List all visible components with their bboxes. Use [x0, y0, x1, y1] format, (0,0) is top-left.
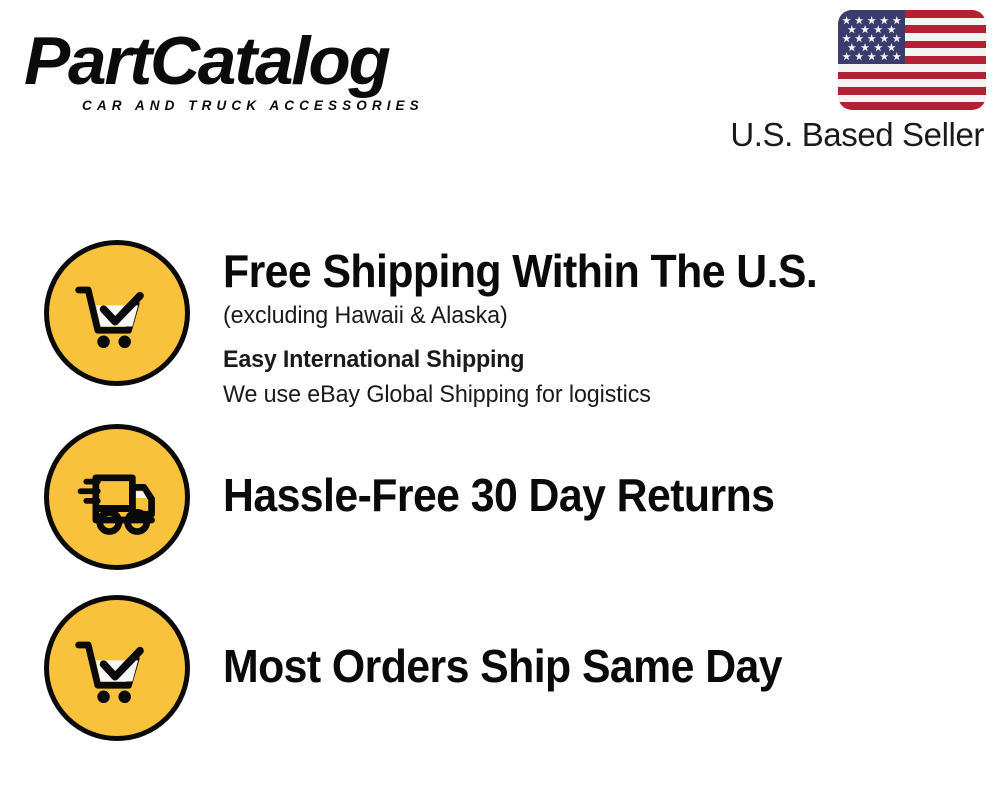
flag-star-icon	[847, 43, 856, 52]
flag-star-grid	[838, 10, 905, 64]
shopping-cart-check-icon	[44, 595, 190, 741]
flag-star-icon	[887, 43, 896, 52]
flag-star-icon	[855, 34, 864, 43]
flag-star-icon	[867, 34, 876, 43]
feature-row: Most Orders Ship Same Day	[0, 595, 1000, 741]
delivery-truck-icon	[44, 424, 190, 570]
flag-star-icon	[855, 16, 864, 25]
flag-stripe	[838, 64, 986, 72]
brand-wordmark: PartCatalog	[24, 26, 503, 96]
flag-star-icon	[855, 52, 864, 61]
flag-star-row	[842, 52, 901, 61]
flag-star-row	[842, 25, 901, 34]
flag-star-icon	[867, 16, 876, 25]
flag-star-icon	[874, 25, 883, 34]
flag-stripe	[838, 72, 986, 80]
feature-heading: Most Orders Ship Same Day	[223, 639, 946, 693]
feature-heading: Hassle-Free 30 Day Returns	[223, 468, 946, 522]
flag-star-row	[842, 34, 901, 43]
flag-stripe	[838, 79, 986, 87]
flag-star-icon	[861, 25, 870, 34]
us-based-seller-label: U.S. Based Seller	[730, 114, 984, 156]
flag-stripe	[838, 95, 986, 103]
flag-star-icon	[880, 34, 889, 43]
flag-star-row	[842, 43, 901, 52]
us-based-seller-badge: U.S. Based Seller	[706, 10, 986, 160]
feature-row: Hassle-Free 30 Day Returns	[0, 424, 1000, 570]
flag-star-icon	[880, 16, 889, 25]
shopping-cart-check-icon	[44, 240, 190, 386]
feature-text-block: Hassle-Free 30 Day Returns	[223, 424, 1000, 522]
flag-star-icon	[867, 52, 876, 61]
flag-star-icon	[861, 43, 870, 52]
flag-star-icon	[842, 16, 851, 25]
feature-subtext: We use eBay Global Shipping for logistic…	[223, 378, 977, 412]
flag-star-icon	[880, 52, 889, 61]
feature-heading: Free Shipping Within The U.S.	[223, 244, 946, 298]
feature-subheading: Easy International Shipping	[223, 343, 977, 377]
flag-star-icon	[874, 43, 883, 52]
flag-star-icon	[892, 34, 901, 43]
brand-tagline: CAR AND TRUCK ACCESSORIES	[82, 98, 424, 113]
us-flag-icon	[838, 10, 986, 110]
flag-canton	[838, 10, 905, 64]
flag-star-icon	[892, 16, 901, 25]
brand-logo[interactable]: PartCatalog CAR AND TRUCK ACCESSORIES	[24, 26, 494, 116]
feature-subnote: (excluding Hawaii & Alaska)	[223, 299, 977, 333]
feature-text-block: Most Orders Ship Same Day	[223, 595, 1000, 693]
flag-stripe	[838, 102, 986, 110]
flag-star-icon	[842, 34, 851, 43]
flag-star-icon	[842, 52, 851, 61]
flag-stripe	[838, 87, 986, 95]
banner-header: PartCatalog CAR AND TRUCK ACCESSORIES	[0, 0, 1000, 180]
feature-text-block: Free Shipping Within The U.S. (excluding…	[223, 240, 1000, 412]
flag-star-icon	[847, 25, 856, 34]
flag-star-icon	[887, 25, 896, 34]
flag-star-row	[842, 16, 901, 25]
feature-row: Free Shipping Within The U.S. (excluding…	[0, 240, 1000, 412]
flag-star-icon	[892, 52, 901, 61]
